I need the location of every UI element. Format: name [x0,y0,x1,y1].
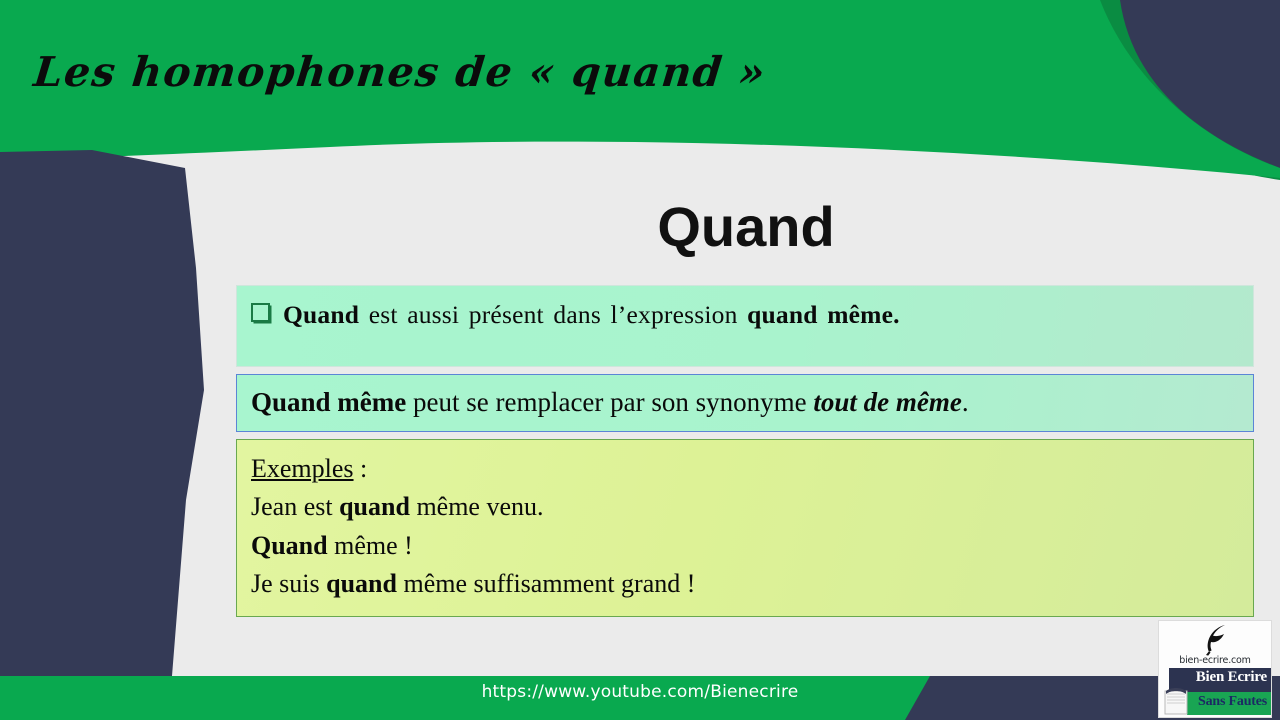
example-2-segment-0: Quand [251,531,328,560]
footer-youtube-url[interactable]: https://www.youtube.com/Bienecrire [0,682,1280,702]
section-heading: Quand [236,198,1256,257]
example-3-segment-2: même suffisamment grand ! [397,569,695,598]
example-3-segment-1: quand [326,569,397,598]
statement-box-1: Quand est aussi présent dans l’expressio… [236,285,1254,367]
slide-canvas: Les homophones de « quand » Quand Quand … [0,0,1280,720]
logo-brand-line-2: Sans Fautes [1187,694,1271,710]
box2-segment-1: peut se remplacer par son synonyme [406,387,813,417]
box1-segment-0: Quand [283,300,359,329]
box1-segment-1: est aussi présent dans l’expression [359,300,747,329]
top-right-dark-green-band [1020,0,1280,180]
example-3-segment-0: Je suis [251,569,326,598]
logo-domain-text: bien-ecrire.com [1159,655,1271,666]
example-line-2: Quand même ! [251,527,1239,565]
hollow-square-bullet-icon [251,303,270,322]
page-title: Les homophones de « quand » [31,48,768,96]
box2-segment-0: Quand même [251,387,406,417]
brand-logo[interactable]: bien-ecrire.com Bien Ecrire Sans Fautes [1158,620,1272,718]
example-line-1: Jean est quand même venu. [251,488,1239,526]
example-line-0: Exemples : [251,450,1239,488]
feather-quill-icon [1203,624,1229,656]
examples-colon: : [354,454,368,483]
statement-box-2: Quand même peut se remplacer par son syn… [236,374,1254,432]
example-2-segment-1: même ! [328,531,413,560]
open-book-icon [1163,685,1189,716]
box2-segment-2: tout de même [813,387,961,417]
example-1-segment-2: même venu. [410,492,544,521]
top-right-navy-shape [1086,0,1280,170]
box1-segment-2: quand même. [747,300,900,329]
examples-box: Exemples : Jean est quand même venu. Qua… [236,439,1254,617]
statement-line-1: Quand est aussi présent dans l’expressio… [251,296,1239,334]
statement-line-2: Quand même peut se remplacer par son syn… [251,383,1239,423]
examples-label: Exemples [251,454,354,483]
example-1-segment-1: quand [339,492,410,521]
left-navy-shape [0,150,204,676]
box2-segment-3: . [962,387,969,417]
example-1-segment-0: Jean est [251,492,339,521]
example-line-3: Je suis quand même suffisamment grand ! [251,565,1239,603]
logo-brand-line-1: Bien Ecrire [1169,669,1271,686]
